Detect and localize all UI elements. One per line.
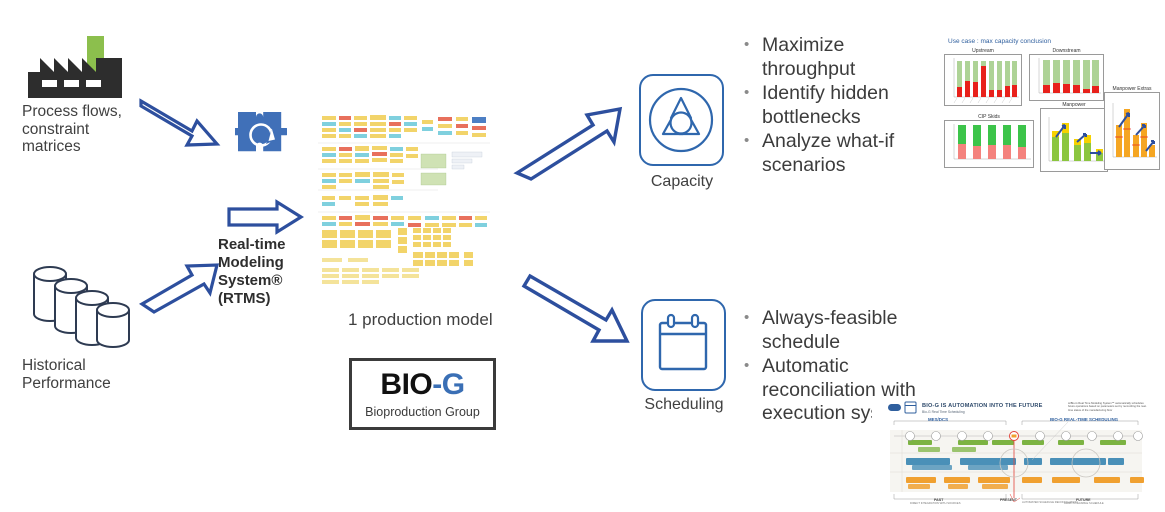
capacity-triangles-icon [639,74,724,166]
gantt-title: BIO-G IS AUTOMATION INTO THE FUTURE [922,403,1043,409]
arrow-rtms-down [227,200,305,234]
capacity-dashboard-thumbnail: Use case : max capacity conclusion Upstr… [936,34,1160,182]
arrow-process-to-rtms [139,95,235,155]
panel-manpower-title: Manpower [1041,102,1107,108]
gantt-section-right: BIO-G REAL-TIME SCHEDULING [1050,417,1118,422]
gantt-section-left: MES/DCS [928,417,948,422]
gantt-note: w/Bio-G Real Time Modeling System™ autom… [1068,402,1150,412]
scheduling-label: Scheduling [624,396,744,414]
rtms-label: Real-time Modeling System® (RTMS) [218,236,308,308]
factory-window [64,80,79,87]
gantt-foot-present: PRESENT [1000,498,1017,502]
panel-upstream: Upstream [944,54,1022,106]
factory-window [86,80,101,87]
factory-window [42,80,57,87]
dashboard-title: Use case : max capacity conclusion [948,38,1051,45]
database-stack-icon [24,258,144,350]
rtms-refresh-icon [235,106,287,158]
gantt-foot-past-sub: DIRECT INTEGRATION WITH SOURCES [910,502,961,505]
factory-icon [28,36,128,98]
production-model-detail [318,228,490,303]
panel-cip-skids-title: CIP Skids [945,114,1033,120]
arrow-history-to-rtms [140,255,230,315]
biog-logo: BIO-G Bioproduction Group [349,358,496,430]
biog-logo-g: G [442,368,465,401]
panel-manpower-extras: Manpower Extras [1104,92,1160,170]
capacity-bullet: Analyze what-if scenarios [740,130,930,177]
panel-cip-skids: CIP Skids [944,120,1034,168]
panel-downstream-title: Downstream [1030,48,1103,54]
capacity-bullet-list: Maximize throughput Identify hidden bott… [740,34,930,178]
production-model-caption: 1 production model [348,310,493,330]
historical-performance-label: Historical Performance [22,357,172,392]
panel-manpower: Manpower [1040,108,1108,172]
scheduling-bullet: Always-feasible schedule [740,307,940,354]
capacity-label: Capacity [622,173,742,191]
arrow-rtms-to-capacity [515,100,630,180]
calendar-icon [641,299,726,391]
capacity-bullet: Identify hidden bottlenecks [740,82,930,129]
biog-logo-bio: BIO [380,368,432,401]
arrow-rtms-to-scheduling [522,268,632,348]
gantt-foot-future-sub: ALWAYS FEASIBLE SCHEDULE [1064,502,1104,505]
capacity-bullet: Maximize throughput [740,34,930,81]
panel-downstream: Downstream [1029,54,1104,101]
scheduling-gantt-thumbnail: BIO-G IS AUTOMATION INTO THE FUTURE Bio-… [872,398,1160,508]
biog-logo-wordmark: BIO-G [352,370,493,400]
gantt-subtitle: Bio-G Real Time Scheduling [922,410,965,414]
factory-building [28,58,122,98]
biog-logo-subtitle: Bioproduction Group [352,405,493,419]
panel-upstream-title: Upstream [945,48,1021,54]
production-model-diagram [318,112,490,240]
biog-logo-dash: - [432,368,442,401]
panel-manpower-extras-title: Manpower Extras [1105,86,1159,92]
